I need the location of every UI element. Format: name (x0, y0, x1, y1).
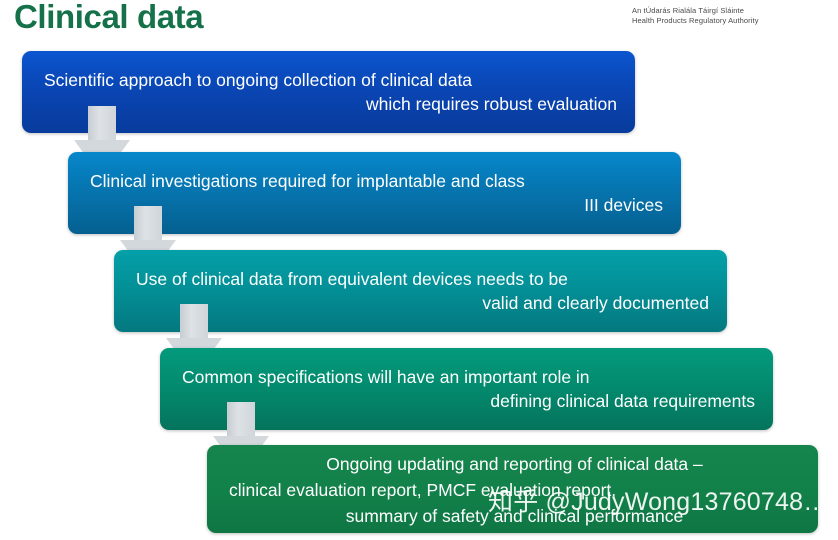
arrow-shaft (227, 402, 255, 438)
hpra-logo-english-text: Health Products Regulatory Authority (632, 16, 810, 26)
arrow-shaft (134, 206, 162, 242)
flow-step-5-line-2: clinical evaluation report, PMCF evaluat… (229, 477, 800, 503)
slide-canvas: Clinical data HPRA An tÚdarás Rialála Tá… (0, 0, 838, 540)
flow-step-5: Ongoing updating and reporting of clinic… (207, 445, 818, 533)
flow-step-4-line-1: Common specifications will have an impor… (182, 365, 755, 389)
flow-step-2-line-1: Clinical investigations required for imp… (90, 169, 663, 193)
flow-step-1-line-1: Scientific approach to ongoing collectio… (44, 68, 617, 92)
hpra-logo-mark: HPRA (638, 0, 810, 6)
flow-step-5-line-1: Ongoing updating and reporting of clinic… (229, 451, 800, 477)
hpra-logo: HPRA An tÚdarás Rialála Táirgí Sláinte H… (632, 0, 810, 26)
flow-step-5-line-3: summary of safety and clinical performan… (229, 503, 800, 529)
arrow-shaft (180, 304, 208, 340)
arrow-shaft (88, 106, 116, 142)
hpra-logo-irish-text: An tÚdarás Rialála Táirgí Sláinte (632, 6, 810, 16)
flow-step-3-line-1: Use of clinical data from equivalent dev… (136, 267, 709, 291)
page-title: Clinical data (14, 0, 203, 36)
